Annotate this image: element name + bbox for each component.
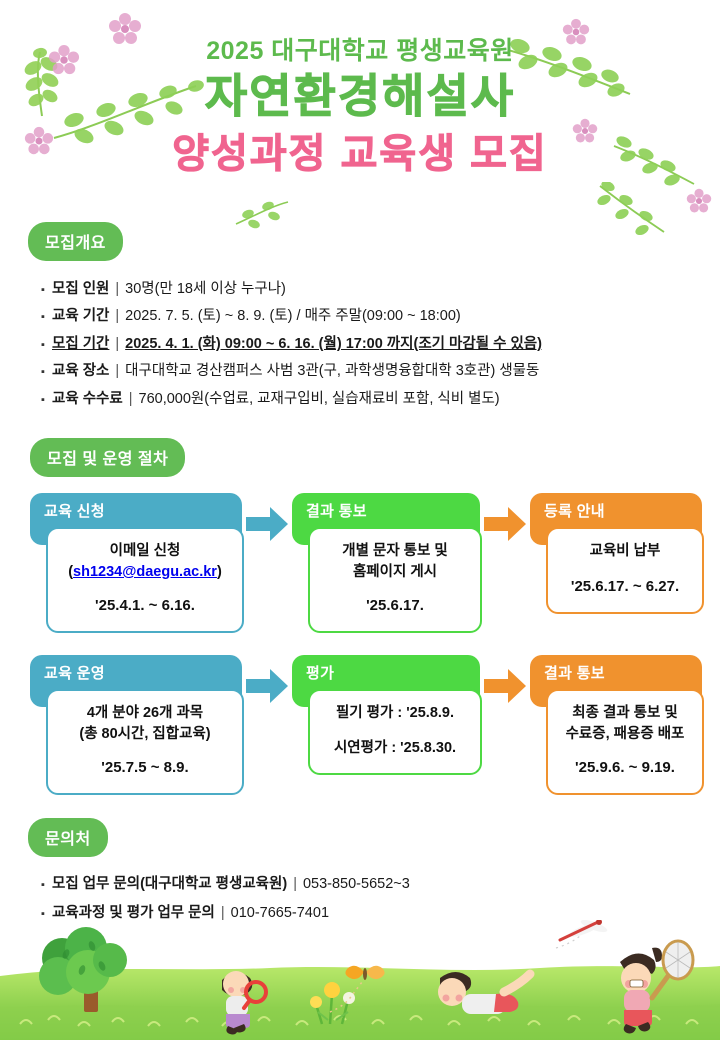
contact-item-label: 교육과정 및 평가 업무 문의 (52, 902, 215, 924)
overview-item-value: 2025. 4. 1. (화) 09:00 ~ 6. 16. (월) 17:00… (125, 333, 542, 355)
flow-body-line2: 시연평가 : '25.8.30. (320, 738, 470, 759)
overview-item-label: 교육 장소 (52, 360, 109, 382)
overview-item-separator: | (109, 278, 125, 300)
overview-item-value: 760,000원(수업료, 교재구입비, 실습재료비 포함, 식비 별도) (139, 388, 500, 410)
flow-body-line1: 4개 분야 26개 과목 (58, 703, 232, 724)
contact-item-phone: 053-850-5652~3 (303, 873, 410, 895)
flow-body-line1: 개별 문자 통보 및 (320, 541, 470, 562)
flow-body-date: '25.6.17. (320, 595, 470, 617)
list-item: ▪ 모집 인원 | 30명(만 18세 이상 누구나) (28, 278, 692, 300)
overview-item-separator: | (109, 333, 125, 355)
bullet-marker-icon: ▪ (28, 364, 52, 381)
bullet-marker-icon: ▪ (28, 309, 52, 326)
section-overview: 모집개요 ▪ 모집 인원 | 30명(만 18세 이상 누구나) ▪ 교육 기간… (28, 222, 692, 415)
section-label-contact: 문의처 (28, 818, 108, 857)
list-item: ▪ 교육 장소 | 대구대학교 경산캠퍼스 사범 3관(구, 과학생명융합대학 … (28, 360, 692, 382)
overview-item-label: 교육 수수료 (52, 388, 123, 410)
bullet-marker-icon: ▪ (28, 282, 52, 299)
list-item: ▪ 모집 기간 | 2025. 4. 1. (화) 09:00 ~ 6. 16.… (28, 333, 692, 355)
bullet-marker-icon: ▪ (28, 906, 52, 923)
header-title-line1: 자연환경해설사 (0, 68, 720, 126)
flow-card-body: 4개 분야 26개 과목 (총 80시간, 집합교육) '25.7.5 ~ 8.… (46, 689, 244, 795)
procedure-flow-row-2: 교육 운영 4개 분야 26개 과목 (총 80시간, 집합교육) '25.7.… (30, 655, 692, 795)
poster-header: 2025 대구대학교 평생교육원 자연환경해설사 양성과정 교육생 모집 (0, 36, 720, 180)
contact-bullet-list: ▪ 모집 업무 문의(대구대학교 평생교육원) | 053-850-5652~3… (28, 873, 692, 925)
poster-root: 2025 대구대학교 평생교육원 자연환경해설사 양성과정 교육생 모집 모집개… (0, 0, 720, 1040)
flow-card-application: 교육 신청 이메일 신청 (sh1234@daegu.ac.kr) '25.4.… (30, 493, 242, 633)
arrow-right-icon (480, 669, 530, 703)
flow-body-date: '25.4.1. ~ 6.16. (58, 595, 232, 617)
arrow-right-icon (242, 507, 292, 541)
flow-body-line2: 수료증, 패용증 배포 (558, 724, 692, 745)
flow-body-line1: 최종 결과 통보 및 (558, 703, 692, 724)
flow-body-line2: (총 80시간, 집합교육) (58, 724, 232, 745)
contact-item-label: 모집 업무 문의(대구대학교 평생교육원) (52, 873, 287, 895)
list-item: ▪ 교육과정 및 평가 업무 문의 | 010-7665-7401 (28, 902, 692, 924)
arrow-right-icon (480, 507, 530, 541)
flow-card-body: 최종 결과 통보 및 수료증, 패용증 배포 '25.9.6. ~ 9.19. (546, 689, 704, 795)
list-item: ▪ 모집 업무 문의(대구대학교 평생교육원) | 053-850-5652~3 (28, 873, 692, 895)
overview-item-value: 대구대학교 경산캠퍼스 사범 3관(구, 과학생명융합대학 3호관) 생물동 (125, 360, 539, 382)
flow-body-line1: 이메일 신청 (58, 541, 232, 562)
list-item: ▪ 교육 기간 | 2025. 7. 5. (토) ~ 8. 9. (토) / … (28, 305, 692, 327)
overview-item-label: 모집 기간 (52, 333, 109, 355)
flow-card-registration-info: 등록 안내 교육비 납부 '25.6.17. ~ 6.27. (530, 493, 702, 614)
header-title-line2: 양성과정 교육생 모집 (0, 128, 720, 180)
section-label-procedure: 모집 및 운영 절차 (30, 438, 185, 477)
contact-item-separator: | (215, 902, 231, 924)
bullet-marker-icon: ▪ (28, 392, 52, 409)
contact-item-separator: | (287, 873, 303, 895)
arrow-right-icon (242, 669, 292, 703)
section-procedure: 모집 및 운영 절차 교육 신청 이메일 신청 (sh1234@daegu.ac… (30, 438, 692, 795)
flower-icon (686, 188, 712, 214)
overview-item-separator: | (109, 360, 125, 382)
flow-body-line1: 필기 평가 : '25.8.9. (320, 703, 470, 724)
flow-body-line1: 교육비 납부 (558, 541, 692, 562)
flow-card-body: 이메일 신청 (sh1234@daegu.ac.kr) '25.4.1. ~ 6… (46, 527, 244, 633)
flow-card-body: 교육비 납부 '25.6.17. ~ 6.27. (546, 527, 704, 614)
header-subtitle: 2025 대구대학교 평생교육원 (0, 36, 720, 66)
overview-item-label: 교육 기간 (52, 305, 109, 327)
flow-body-email-line: (sh1234@daegu.ac.kr) (58, 562, 232, 583)
flow-body-date: '25.6.17. ~ 6.27. (558, 576, 692, 598)
flow-body-line2: 홈페이지 게시 (320, 562, 470, 583)
flow-body-date: '25.7.5 ~ 8.9. (58, 757, 232, 779)
flow-body-date: '25.9.6. ~ 9.19. (558, 757, 692, 779)
procedure-flow-row-1: 교육 신청 이메일 신청 (sh1234@daegu.ac.kr) '25.4.… (30, 493, 692, 633)
email-paren-close: ) (217, 564, 222, 580)
section-label-overview: 모집개요 (28, 222, 123, 261)
overview-item-separator: | (109, 305, 125, 327)
section-contact: 문의처 ▪ 모집 업무 문의(대구대학교 평생교육원) | 053-850-56… (28, 818, 692, 932)
email-link[interactable]: sh1234@daegu.ac.kr (73, 564, 217, 580)
flow-card-evaluation: 평가 필기 평가 : '25.8.9. 시연평가 : '25.8.30. (292, 655, 480, 775)
flow-card-body: 개별 문자 통보 및 홈페이지 게시 '25.6.17. (308, 527, 482, 633)
flow-card-final-result: 결과 통보 최종 결과 통보 및 수료증, 패용증 배포 '25.9.6. ~ … (530, 655, 702, 795)
overview-bullet-list: ▪ 모집 인원 | 30명(만 18세 이상 누구나) ▪ 교육 기간 | 20… (28, 278, 692, 410)
bullet-marker-icon: ▪ (28, 337, 52, 354)
list-item: ▪ 교육 수수료 | 760,000원(수업료, 교재구입비, 실습재료비 포함… (28, 388, 692, 410)
overview-item-value: 2025. 7. 5. (토) ~ 8. 9. (토) / 매주 주말(09:0… (125, 305, 461, 327)
overview-item-value: 30명(만 18세 이상 누구나) (125, 278, 286, 300)
bullet-marker-icon: ▪ (28, 877, 52, 894)
flow-card-result-notice: 결과 통보 개별 문자 통보 및 홈페이지 게시 '25.6.17. (292, 493, 480, 633)
bottom-illustration (0, 920, 720, 1040)
flow-card-training-operation: 교육 운영 4개 분야 26개 과목 (총 80시간, 집합교육) '25.7.… (30, 655, 242, 795)
contact-item-phone: 010-7665-7401 (231, 902, 329, 924)
overview-item-separator: | (123, 388, 139, 410)
overview-item-label: 모집 인원 (52, 278, 109, 300)
flow-card-body: 필기 평가 : '25.8.9. 시연평가 : '25.8.30. (308, 689, 482, 775)
